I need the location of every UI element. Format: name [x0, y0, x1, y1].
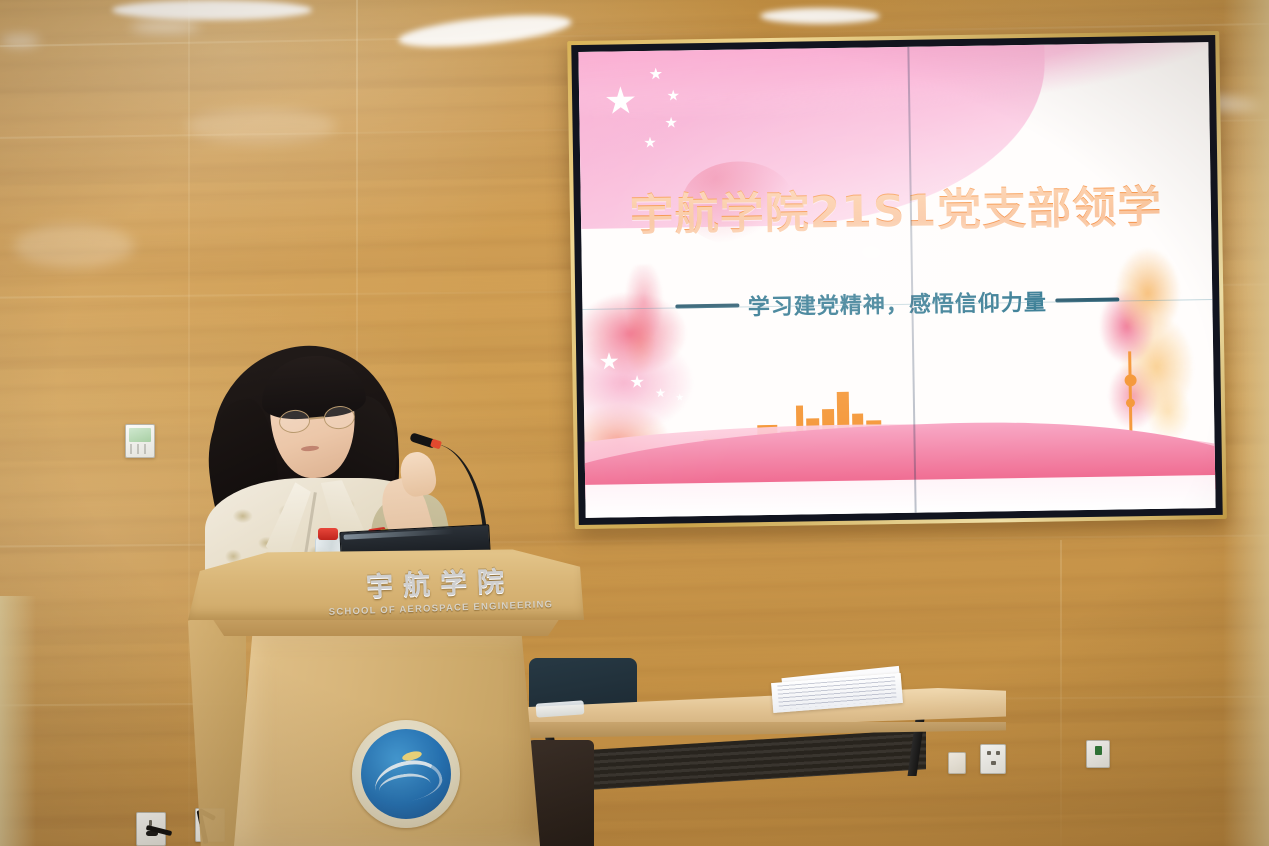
thermostat-buttons[interactable] [130, 444, 150, 454]
wall-vertical-seam [1060, 540, 1062, 846]
wall-glare [0, 36, 40, 46]
emblem-inner-disc [361, 729, 451, 819]
thermostat-panel[interactable] [125, 424, 155, 458]
wall-corner-left [0, 596, 36, 846]
wall-glare [186, 108, 336, 144]
glasses-lens-left [278, 409, 311, 435]
presentation-photo: 宇航学院21S1党支部领学 学习建党精神，感悟信仰力量 [0, 0, 1269, 846]
bottle-cap [318, 528, 338, 540]
podium: 宇航学院 SCHOOL OF AEROSPACE ENGINEERING [180, 548, 592, 846]
presentation-slide: 宇航学院21S1党支部领学 学习建党精神，感悟信仰力量 [578, 42, 1215, 518]
outlet-socket [1095, 746, 1102, 755]
display-frame: 宇航学院21S1党支部领学 学习建党精神，感悟信仰力量 [567, 31, 1227, 529]
display-bezel: 宇航学院21S1党支部领学 学习建党精神，感悟信仰力量 [571, 35, 1222, 525]
slide-title: 宇航学院21S1党支部领学 [580, 170, 1211, 244]
wall-glare [14, 224, 134, 268]
university-emblem [352, 720, 460, 828]
table-modesty-panel [576, 729, 926, 790]
document-text-lines [777, 676, 897, 709]
wall-corner-right [1223, 0, 1269, 846]
wall-glare [130, 22, 200, 32]
thermostat-display [129, 428, 151, 442]
display-surface[interactable]: 宇航学院21S1党支部领学 学习建党精神，感悟信仰力量 [578, 42, 1215, 518]
china-flag-banner-fold [578, 42, 1210, 192]
wall-glare [112, 0, 312, 20]
wall-glare [760, 8, 880, 24]
glasses-bridge [310, 416, 324, 419]
wall-outlet[interactable] [1086, 740, 1110, 768]
wall-display[interactable]: 宇航学院21S1党支部领学 学习建党精神，感悟信仰力量 [567, 31, 1227, 529]
glasses-lens-right [323, 405, 356, 431]
table-edge [520, 722, 1006, 738]
